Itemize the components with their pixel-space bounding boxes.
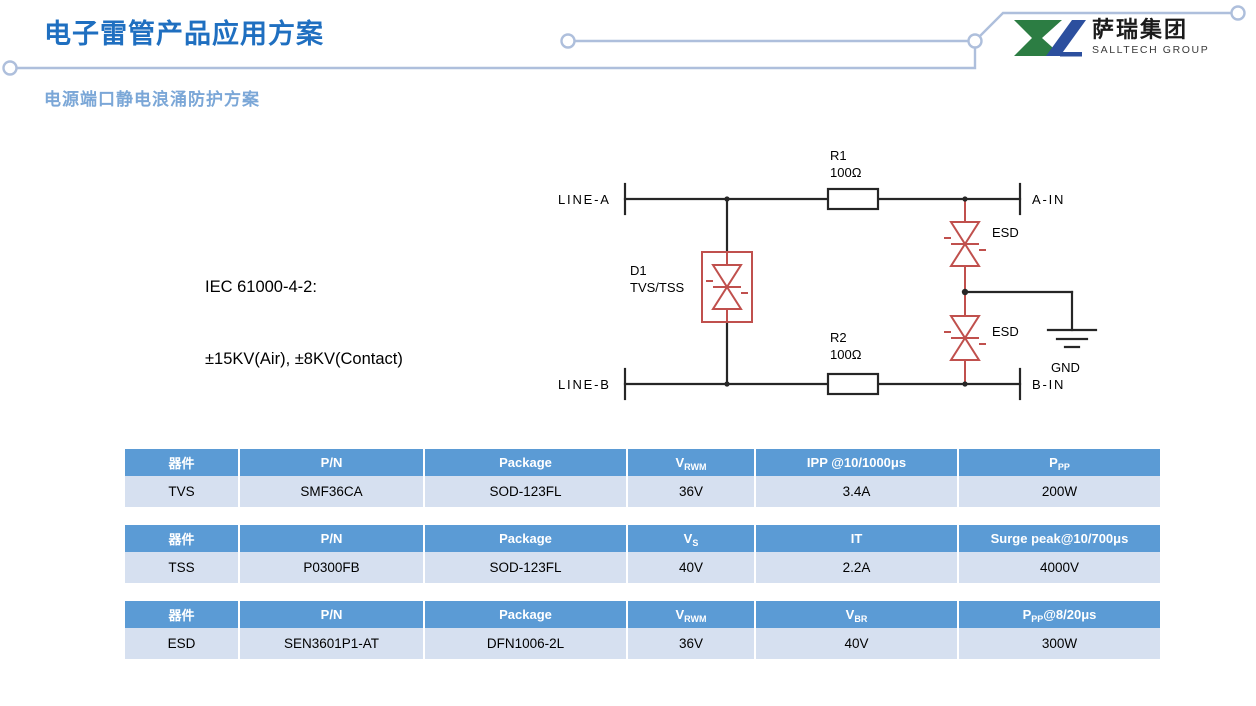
th-pn: P/N <box>239 449 424 476</box>
td-package: DFN1006-2L <box>424 628 627 659</box>
table-row: ESD SEN3601P1-AT DFN1006-2L 36V 40V 300W <box>125 628 1160 659</box>
logo-chinese-name: 萨瑞集团 <box>1092 20 1209 42</box>
resistor-r1-value: 100Ω <box>830 165 862 180</box>
th-vs: VS <box>627 525 755 552</box>
th-device: 器件 <box>125 601 239 628</box>
junction-node-esd-top <box>962 196 967 201</box>
resistor-r2-body <box>828 374 878 394</box>
th-package: Package <box>424 601 627 628</box>
table-header-row: 器件 P/N Package VRWM VBR PPP@8/20μs <box>125 601 1160 628</box>
deco-circle-mid-right <box>969 35 982 48</box>
logo-english-name: SALLTECH GROUP <box>1092 45 1209 56</box>
th-surge-peak: Surge peak@10/700μs <box>958 525 1160 552</box>
b-in-label: B-IN <box>1032 377 1065 392</box>
th-ppp: PPP <box>958 449 1160 476</box>
th-ipp: IPP @10/1000μs <box>755 449 958 476</box>
td-vrwm: 36V <box>627 628 755 659</box>
page-title: 电子雷管产品应用方案 <box>44 12 324 51</box>
d1-type-label: TVS/TSS <box>630 280 685 295</box>
gnd-symbol <box>1048 330 1096 347</box>
td-pn: SMF36CA <box>239 476 424 507</box>
th-pn: P/N <box>239 601 424 628</box>
td-package: SOD-123FL <box>424 476 627 507</box>
td-it: 2.2A <box>755 552 958 583</box>
th-it: IT <box>755 525 958 552</box>
esd-top-symbol <box>944 199 986 292</box>
salltech-logo-mark <box>1010 16 1086 60</box>
gnd-label: GND <box>1051 360 1080 375</box>
company-logo: 萨瑞集团 SALLTECH GROUP <box>1010 16 1209 60</box>
junction-node-a <box>724 196 729 201</box>
table-header-row: 器件 P/N Package VS IT Surge peak@10/700μs <box>125 525 1160 552</box>
td-device: TSS <box>125 552 239 583</box>
td-vs: 40V <box>627 552 755 583</box>
spec-line-2: ±15KV(Air), ±8KV(Contact) <box>205 348 403 372</box>
td-ppp: 200W <box>958 476 1160 507</box>
td-ppp-820: 300W <box>958 628 1160 659</box>
td-package: SOD-123FL <box>424 552 627 583</box>
esd-top-label: ESD <box>992 225 1019 240</box>
table-row: TSS P0300FB SOD-123FL 40V 2.2A 4000V <box>125 552 1160 583</box>
resistor-r2-ref: R2 <box>830 330 847 345</box>
td-ipp: 3.4A <box>755 476 958 507</box>
deco-circle-left <box>4 62 17 75</box>
td-pn: P0300FB <box>239 552 424 583</box>
spec-line-1: IEC 61000-4-2: <box>205 276 403 300</box>
line-a-label: LINE-A <box>558 192 611 207</box>
line-b-label: LINE-B <box>558 377 611 392</box>
d1-ref-label: D1 <box>630 263 647 278</box>
th-ppp-820: PPP@8/20μs <box>958 601 1160 628</box>
deco-circle-right <box>1232 7 1245 20</box>
junction-node-esd-bottom <box>962 381 967 386</box>
th-vrwm: VRWM <box>627 449 755 476</box>
tss-spec-table: 器件 P/N Package VS IT Surge peak@10/700μs… <box>125 525 1160 583</box>
a-in-label: A-IN <box>1032 192 1065 207</box>
th-pn: P/N <box>239 525 424 552</box>
td-vrwm: 36V <box>627 476 755 507</box>
table-header-row: 器件 P/N Package VRWM IPP @10/1000μs PPP <box>125 449 1160 476</box>
resistor-r2-value: 100Ω <box>830 347 862 362</box>
td-device: ESD <box>125 628 239 659</box>
page-subtitle: 电源端口静电浪涌防护方案 <box>44 85 260 110</box>
th-vbr: VBR <box>755 601 958 628</box>
deco-circle-mid-left <box>562 35 575 48</box>
th-vrwm: VRWM <box>627 601 755 628</box>
th-device: 器件 <box>125 525 239 552</box>
circuit-diagram: R1 100Ω R2 100Ω D1 TVS/TSS ESD ESD <box>520 140 1140 430</box>
esd-spec-table: 器件 P/N Package VRWM VBR PPP@8/20μs ESD S… <box>125 601 1160 659</box>
td-vbr: 40V <box>755 628 958 659</box>
esd-bottom-label: ESD <box>992 324 1019 339</box>
esd-bottom-symbol <box>944 292 986 384</box>
junction-node-b <box>724 381 729 386</box>
th-package: Package <box>424 525 627 552</box>
th-package: Package <box>424 449 627 476</box>
table-row: TVS SMF36CA SOD-123FL 36V 3.4A 200W <box>125 476 1160 507</box>
td-device: TVS <box>125 476 239 507</box>
resistor-r1-body <box>828 189 878 209</box>
td-surge-peak: 4000V <box>958 552 1160 583</box>
td-pn: SEN3601P1-AT <box>239 628 424 659</box>
tvs-spec-table: 器件 P/N Package VRWM IPP @10/1000μs PPP T… <box>125 449 1160 507</box>
resistor-r1-ref: R1 <box>830 148 847 163</box>
th-device: 器件 <box>125 449 239 476</box>
junction-node-gnd <box>962 289 968 295</box>
